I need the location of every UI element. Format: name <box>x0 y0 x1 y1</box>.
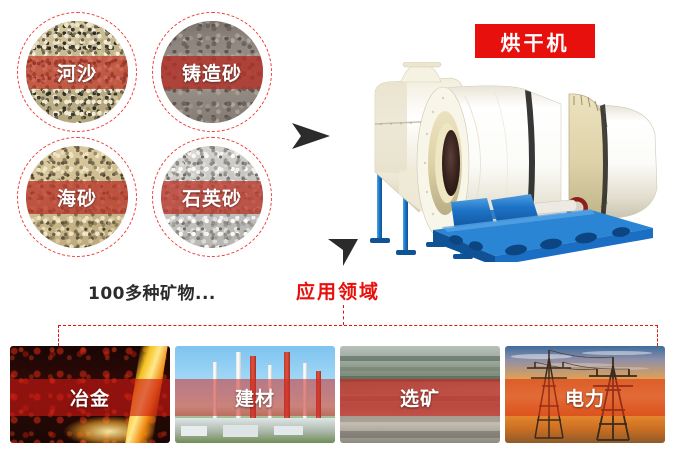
application-label-metallurgy: 冶金 <box>10 379 170 416</box>
connector-horizontal <box>58 325 658 326</box>
application-label-building-materials: 建材 <box>175 379 335 416</box>
application-card-power[interactable]: 电力 <box>505 346 665 443</box>
material-label-river-sand: 河沙 <box>26 56 128 89</box>
application-label-power: 电力 <box>505 379 665 416</box>
connector-center-stem <box>343 305 344 325</box>
material-photo-river-sand: 河沙 <box>26 21 128 123</box>
material-circle-river-sand[interactable]: 河沙 <box>17 12 137 132</box>
application-card-ore-dressing[interactable]: 选矿 <box>340 346 500 443</box>
material-photo-quartz-sand: 石英砂 <box>161 146 263 248</box>
rotary-dryer-illustration <box>355 62 675 262</box>
connector-right-drop <box>657 325 658 346</box>
material-circle-foundry-sand[interactable]: 铸造砂 <box>152 12 272 132</box>
product-banner: 烘干机 <box>475 24 595 58</box>
material-circle-quartz-sand[interactable]: 石英砂 <box>152 137 272 257</box>
application-card-metallurgy[interactable]: 冶金 <box>10 346 170 443</box>
infographic-canvas: 河沙 铸造砂 海砂 石英砂 100 <box>0 0 680 450</box>
connector-left-drop <box>58 325 59 346</box>
ore-count-caption: 100多种矿物... <box>88 279 216 304</box>
material-photo-sea-sand: 海砂 <box>26 146 128 248</box>
arrow-right-icon <box>290 120 332 152</box>
material-circle-sea-sand[interactable]: 海砂 <box>17 137 137 257</box>
material-label-sea-sand: 海砂 <box>26 181 128 214</box>
applications-heading: 应用领域 <box>296 277 380 304</box>
application-label-ore-dressing: 选矿 <box>340 379 500 416</box>
material-label-quartz-sand: 石英砂 <box>161 181 263 214</box>
material-label-foundry-sand: 铸造砂 <box>161 56 263 89</box>
material-photo-foundry-sand: 铸造砂 <box>161 21 263 123</box>
application-card-building-materials[interactable]: 建材 <box>175 346 335 443</box>
